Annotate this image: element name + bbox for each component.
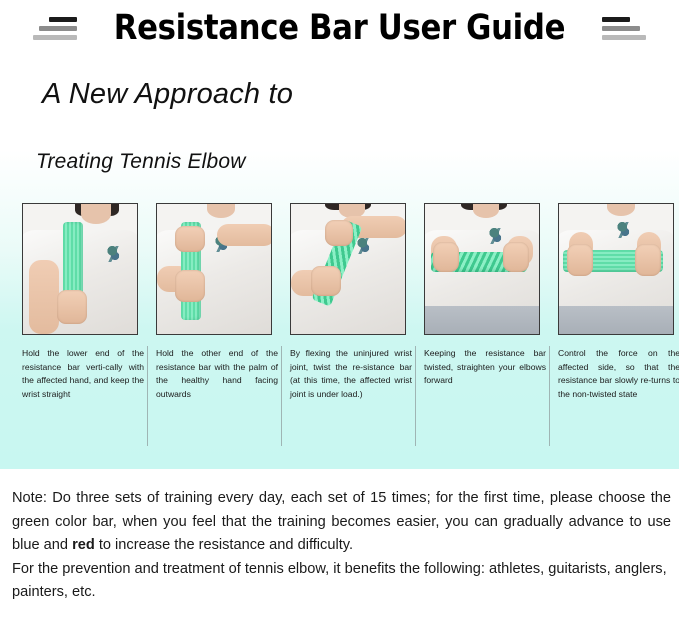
step-2-caption: Hold the other end of the resistance bar… [152,347,278,401]
step-2-photo [156,203,272,335]
step-1-caption: Hold the lower end of the resistance bar… [18,347,144,401]
note-block: Note: Do three sets of training every da… [12,487,671,605]
step-2: Hold the other end of the resistance bar… [150,203,280,401]
step-4-photo [424,203,540,335]
page-title: Resistance Bar User Guide [114,6,565,50]
subtitle-line-1: A New Approach to [42,78,293,111]
step-4: Keeping the resistance bar twisted, stra… [418,203,548,388]
step-5-caption: Control the force on the affected side, … [554,347,679,401]
subtitle-line-2: Treating Tennis Elbow [36,150,246,174]
step-5: Control the force on the affected side, … [552,203,679,401]
step-separator [147,346,148,446]
step-4-caption: Keeping the resistance bar twisted, stra… [420,347,546,388]
step-3-photo [290,203,406,335]
step-separator [549,346,550,446]
step-3: By flexing the uninjured wrist joint, tw… [284,203,414,401]
step-separator [415,346,416,446]
step-separator [281,346,282,446]
note-bold-word: red [72,537,95,553]
step-5-photo [558,203,674,335]
title-row: Resistance Bar User Guide [0,2,679,54]
note-paragraph-2: For the prevention and treatment of tenn… [12,558,671,605]
guide-page: Resistance Bar User Guide A New Approach… [0,0,679,627]
note-paragraph-1: Note: Do three sets of training every da… [12,487,671,558]
note-text-after-bold: to increase the resistance and difficult… [95,537,353,553]
decorative-lines-left-icon [31,17,77,40]
step-3-caption: By flexing the uninjured wrist joint, tw… [286,347,412,401]
step-1: Hold the lower end of the resistance bar… [16,203,146,401]
decorative-lines-right-icon [602,17,648,40]
step-strip: Hold the lower end of the resistance bar… [16,203,666,453]
step-1-photo [22,203,138,335]
